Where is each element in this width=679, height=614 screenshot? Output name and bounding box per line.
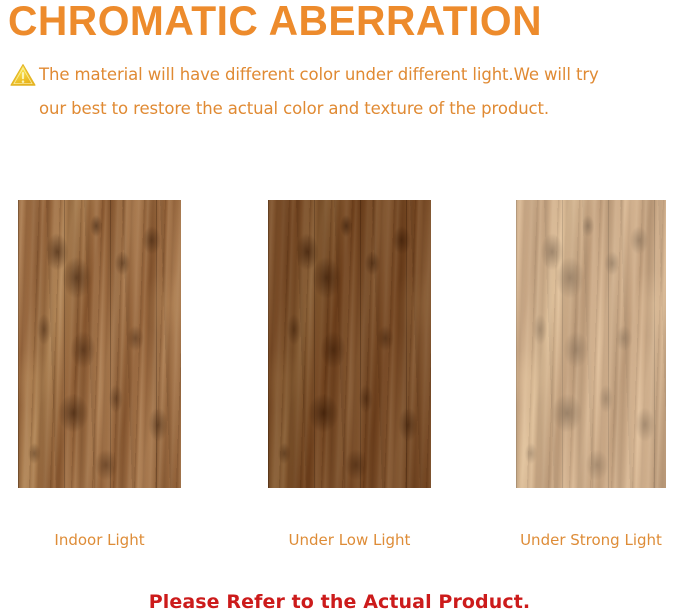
lighting-overlay — [18, 200, 181, 488]
chromatic-aberration-notice: The material will have different color u… — [8, 58, 676, 126]
swatch-panel-row — [0, 200, 679, 488]
swatch-label-under-strong-light: Under Strong Light — [516, 528, 666, 552]
swatch-label-indoor-light: Indoor Light — [18, 528, 181, 552]
footer-disclaimer: Please Refer to the Actual Product. — [0, 590, 679, 614]
swatch-image-under-low-light — [268, 200, 431, 488]
page-title: CHROMATIC ABERRATION — [8, 0, 648, 44]
swatch-caption-row: Indoor Light Under Low Light Under Stron… — [0, 528, 679, 556]
warning-triangle-icon — [10, 63, 36, 87]
notice-line-2: our best to restore the actual color and… — [39, 92, 676, 126]
notice-line-1: The material will have different color u… — [39, 65, 599, 84]
lighting-overlay — [268, 200, 431, 488]
lighting-overlay — [516, 200, 666, 488]
notice-text: The material will have different color u… — [8, 58, 676, 126]
swatch-image-indoor-light — [18, 200, 181, 488]
swatch-label-under-low-light: Under Low Light — [268, 528, 431, 552]
swatch-image-under-strong-light — [516, 200, 666, 488]
